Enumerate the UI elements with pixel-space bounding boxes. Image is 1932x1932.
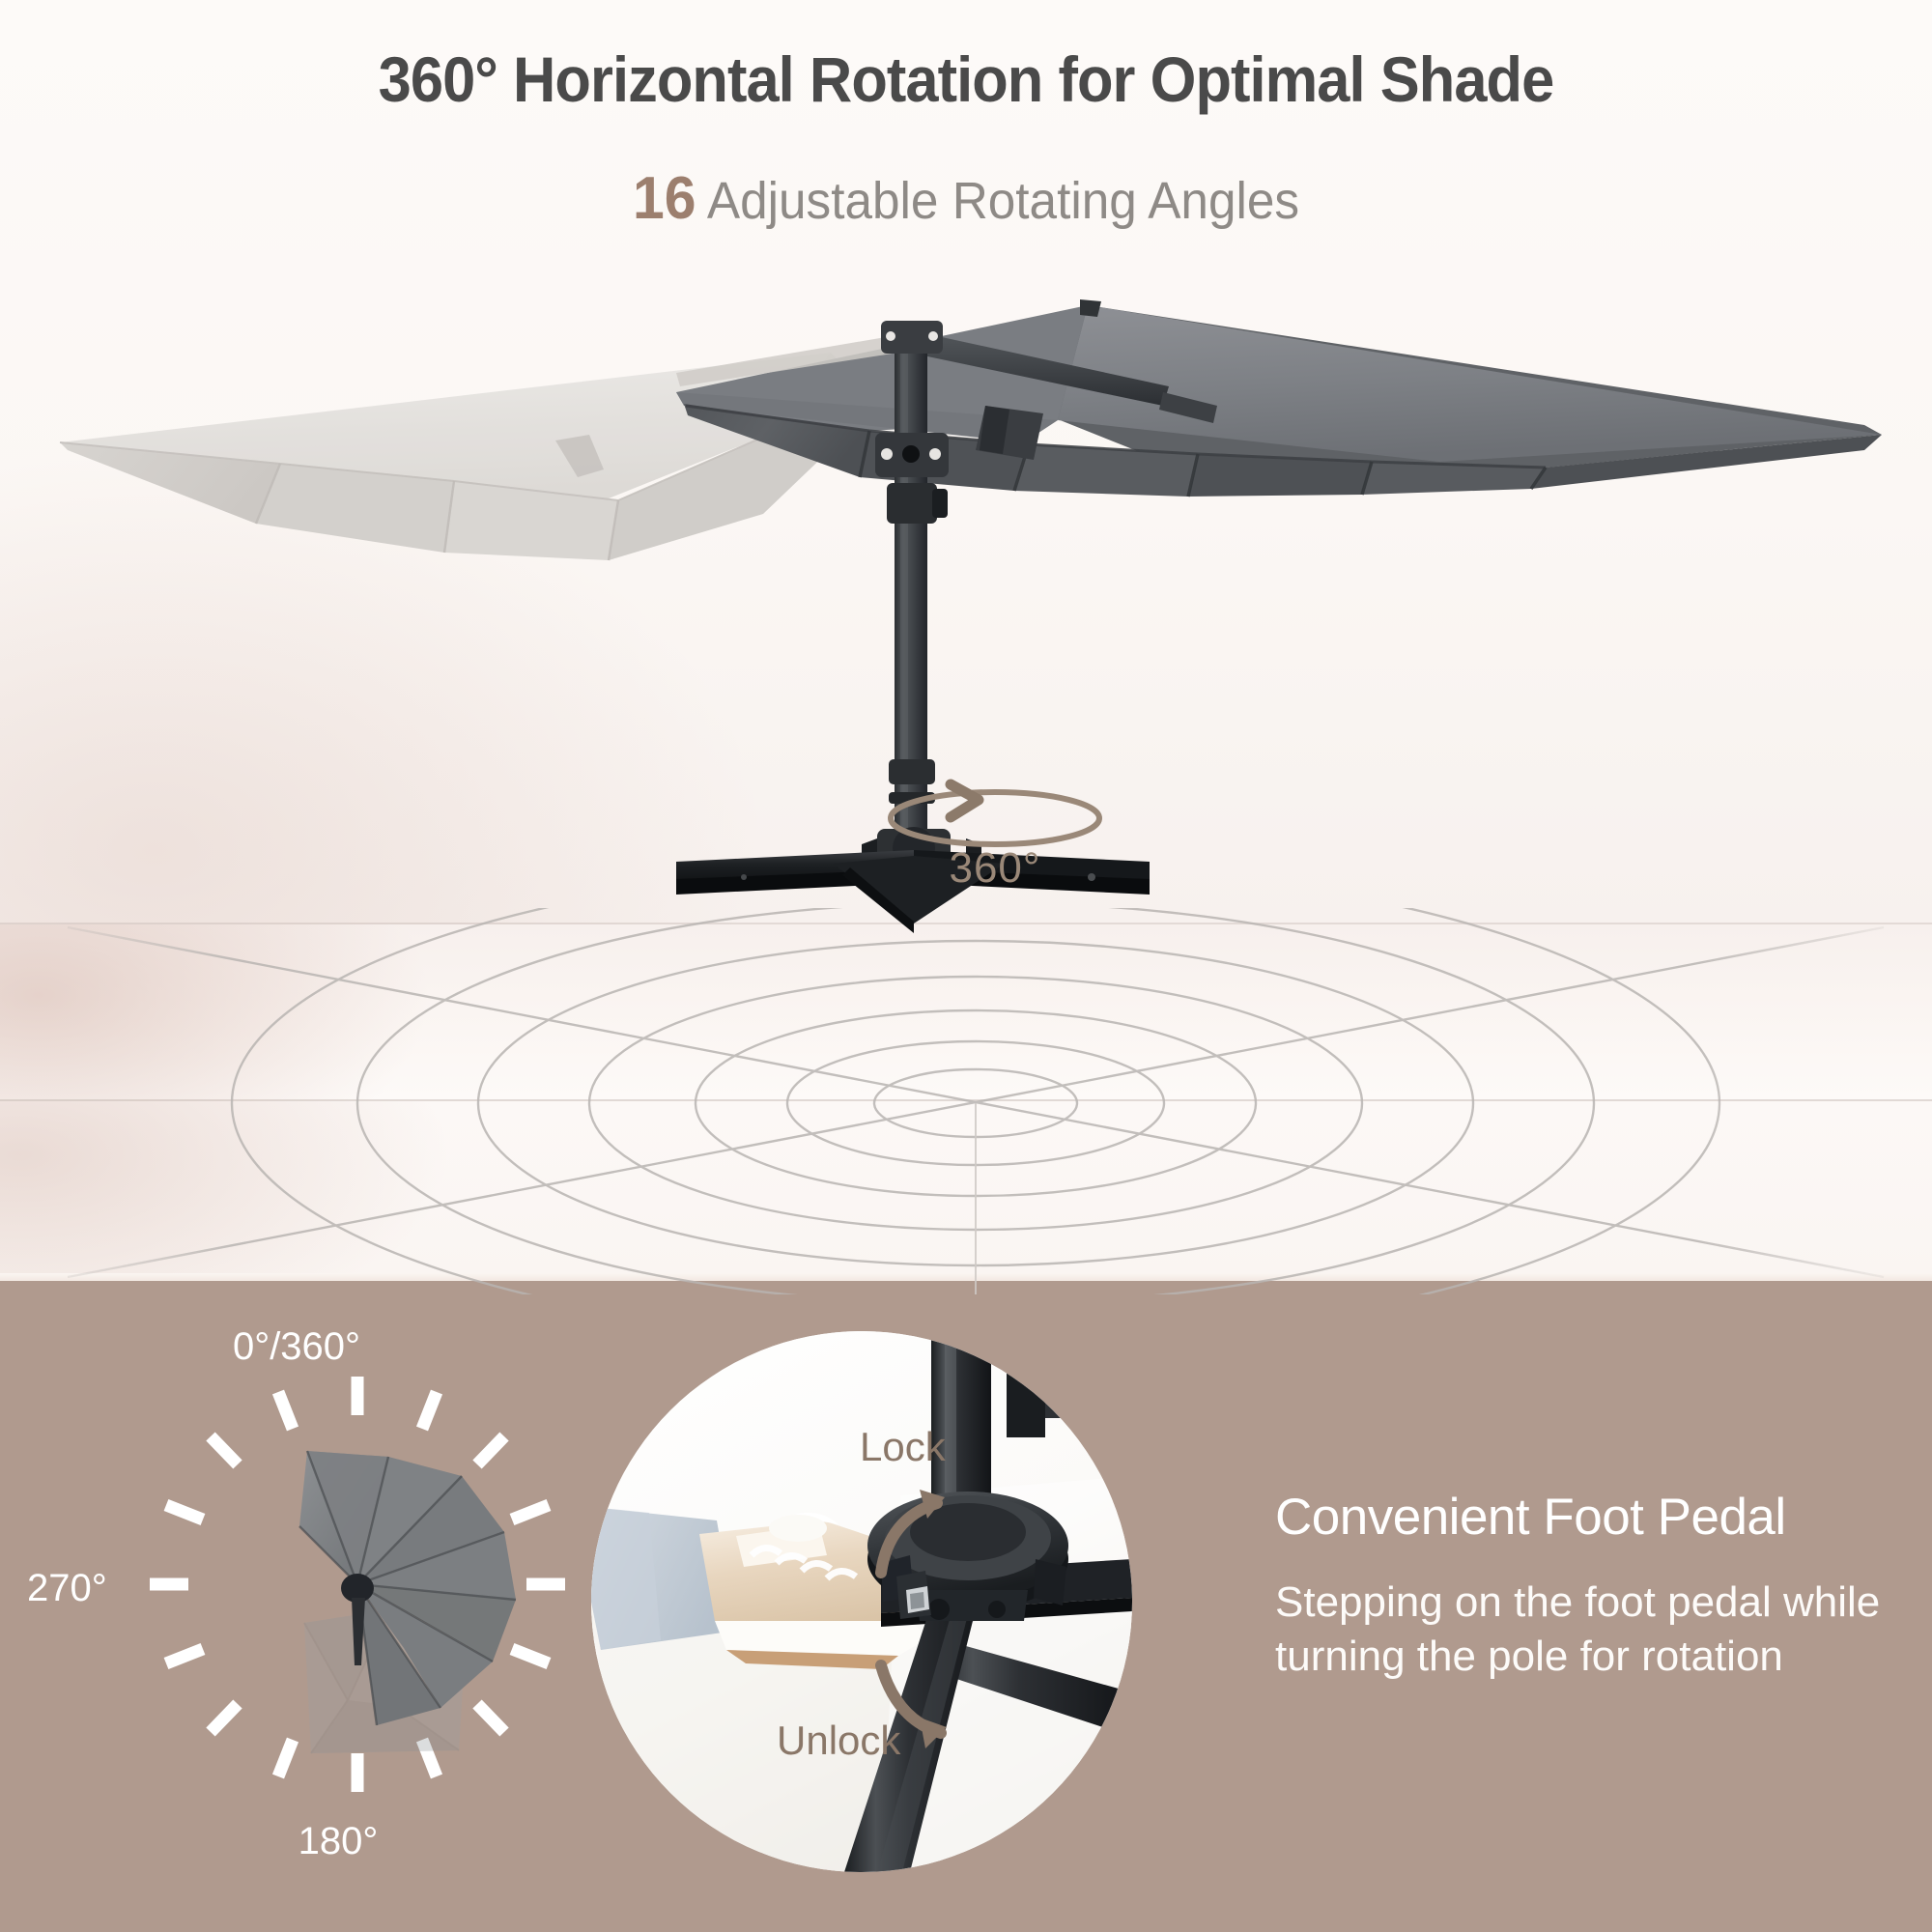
feature-title: Convenient Foot Pedal <box>1275 1491 1913 1545</box>
dial-label-0-360: 0°/360° <box>233 1325 360 1369</box>
page-headline: 360° Horizontal Rotation for Optimal Sha… <box>68 43 1864 116</box>
foot-pedal <box>896 1571 931 1619</box>
foot-pedal-photo <box>591 1331 1132 1872</box>
dial-label-180: 180° <box>298 1820 379 1863</box>
page-subheadline: 16 Adjustable Rotating Angles <box>48 164 1884 233</box>
angle-count-number: 16 <box>633 165 696 232</box>
rotation-badge-label: 360° <box>850 844 1140 893</box>
unlock-label: Unlock <box>777 1718 900 1764</box>
infographic-canvas: 360° Horizontal Rotation for Optimal Sha… <box>0 0 1932 1932</box>
foot-pedal-photo-inset: Lock Unlock <box>591 1331 1132 1872</box>
umbrella-dark-canopy <box>676 299 1882 497</box>
feature-text-block: Convenient Foot Pedal Stepping on the fo… <box>1275 1491 1913 1684</box>
lock-label: Lock <box>860 1424 946 1470</box>
dial-label-270: 270° <box>27 1567 107 1610</box>
rotation-badge: 360° <box>850 763 1140 908</box>
angle-count-label: Adjustable Rotating Angles <box>696 172 1299 230</box>
feature-body: Stepping on the foot pedal while turning… <box>1275 1576 1913 1685</box>
